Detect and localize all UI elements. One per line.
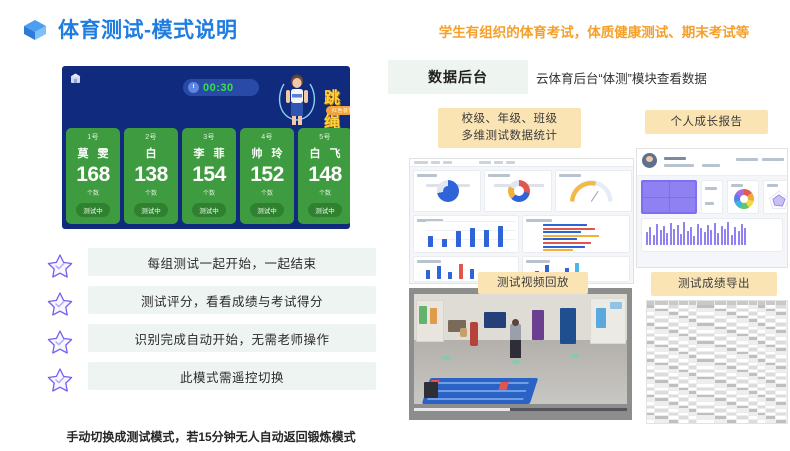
table-cell [758,330,766,333]
table-cell [749,319,758,322]
table-cell [766,366,776,369]
video-scrubber[interactable] [414,408,627,411]
table-cell [758,316,766,319]
feature-row: 此模式需遥控切换 [46,362,376,400]
table-cell [776,388,787,391]
table-cell [647,398,655,401]
count-unit: 个数 [203,188,215,197]
table-cell [679,366,689,369]
table-cell [679,312,689,315]
table-cell [776,323,787,326]
horizontal-bar-card [522,215,630,253]
table-cell [776,309,787,312]
table-cell [689,309,697,312]
table-cell [776,377,787,380]
table-cell [727,316,737,319]
table-cell [737,355,749,358]
table-cell [758,363,766,366]
table-cell [737,334,749,337]
table-cell [679,348,689,351]
table-cell [689,352,697,355]
table-cell [727,334,737,337]
radar-chart [766,188,788,212]
jump-rope-athlete-icon [274,70,320,128]
table-cell [758,323,766,326]
table-cell [647,359,655,362]
table-cell [749,406,758,409]
table-cell [669,359,679,362]
student-count: 152 [250,164,284,185]
table-cell [715,388,727,391]
table-cell [689,409,697,412]
table-cell [766,420,776,423]
student-name: 莫 雯 [74,145,111,161]
page-title: 体育测试-模式说明 [58,14,238,44]
table-cell [727,406,737,409]
table-cell [679,416,689,419]
table-cell [776,312,787,315]
table-cell [727,341,737,344]
table-cell [727,330,737,333]
table-cell [727,402,737,405]
table-cell [766,402,776,405]
table-cell [689,355,697,358]
table-cell [697,409,715,412]
table-cell [697,413,715,416]
table-cell [689,377,697,380]
table-cell [669,373,679,376]
table-cell [715,406,727,409]
table-cell [749,352,758,355]
table-cell [749,327,758,330]
table-cell [669,366,679,369]
table-cell [679,398,689,401]
table-cell [655,345,669,348]
table-cell [655,373,669,376]
table-cell [715,352,727,355]
student-count: 148 [308,164,342,185]
table-cell [689,337,697,340]
table-cell [655,370,669,373]
table-cell [776,391,787,394]
table-cell [655,395,669,398]
table-cell [679,370,689,373]
table-cell [758,416,766,419]
backend-section-tag: 数据后台 [388,60,528,94]
wall-mural [610,302,622,309]
table-cell [749,380,758,383]
caption-personal: 个人成长报告 [645,110,768,134]
table-cell [655,334,669,337]
table-cell [758,309,766,312]
table-cell [737,388,749,391]
table-cell [737,341,749,344]
table-cell [766,406,776,409]
table-cell [737,309,749,312]
table-cell [647,323,655,326]
table-cell [697,309,715,312]
student-card: 4号 帅 玲 152 个数 测试中 [240,128,294,224]
table-cell [655,406,669,409]
table-cell [758,409,766,412]
table-cell [689,420,697,423]
table-cell [715,330,727,333]
table-cell [727,348,737,351]
table-cell [766,352,776,355]
table-cell [727,359,737,362]
table-cell [776,330,787,333]
report-meta [762,158,784,161]
sport-sub-badge: 红色装饰标 [326,106,350,115]
table-cell [727,409,737,412]
table-cell [689,305,697,308]
table-cell [758,305,766,308]
table-cell [749,366,758,369]
count-unit: 个数 [261,188,273,197]
table-cell [655,305,669,308]
test-video-playback-screenshot [409,288,632,420]
table-cell [679,319,689,322]
table-cell [727,345,737,348]
status-badge: 测试中 [192,203,226,217]
table-cell [766,348,776,351]
table-cell [715,341,727,344]
table-cell [647,337,655,340]
table-cell [727,391,737,394]
table-cell [727,337,737,340]
table-cell [727,363,737,366]
table-cell [776,337,787,340]
table-cell [689,323,697,326]
table-cell [749,323,758,326]
avatar [642,153,657,168]
table-cell [715,316,727,319]
student-name: 帅 玲 [248,145,285,161]
table-cell [737,359,749,362]
table-cell [697,398,715,401]
table-cell [749,341,758,344]
table-cell [679,395,689,398]
table-cell [766,391,776,394]
student-number: 1号 [87,132,99,142]
table-cell [679,388,689,391]
table-cell [766,359,776,362]
table-cell [766,305,776,308]
table-cell [647,377,655,380]
cube-logo-icon [22,17,48,43]
feature-row: 每组测试一起开始，一起结束 [46,248,376,286]
table-cell [679,323,689,326]
table-cell [737,366,749,369]
table-cell [776,316,787,319]
score-export-table-screenshot [646,300,788,424]
table-cell [749,388,758,391]
table-cell [655,323,669,326]
table-cell [776,345,787,348]
table-cell [766,316,776,319]
table-cell [697,402,715,405]
table-cell [766,370,776,373]
kpi-donut-card [484,170,552,212]
table-cell [727,380,737,383]
table-cell [758,345,766,348]
table-cell [727,416,737,419]
table-cell [727,319,737,322]
table-cell [776,359,787,362]
table-cell [758,366,766,369]
table-cell [749,334,758,337]
table-cell [715,384,727,387]
table-cell [715,420,727,423]
table-cell [737,420,749,423]
table-cell [669,395,679,398]
table-cell [737,345,749,348]
table-cell [647,388,655,391]
table-cell [689,391,697,394]
table-cell [679,352,689,355]
table-cell [776,384,787,387]
kpi-tiles [641,180,697,214]
table-cell [655,398,669,401]
display-screen [484,312,506,328]
table-cell [766,398,776,401]
status-badge: 测试中 [308,203,342,217]
table-cell [655,309,669,312]
table-cell [749,337,758,340]
table-cell [669,398,679,401]
table-cell [647,309,655,312]
feature-row: 识别完成自动开始，无需老师操作 [46,324,376,362]
table-cell [679,377,689,380]
caption-line-1: 校级、年级、班级 [462,111,558,128]
table-cell [766,395,776,398]
table-cell [679,309,689,312]
star-icon [46,252,74,280]
table-cell [737,380,749,383]
table-cell [647,345,655,348]
table-cell [689,359,697,362]
table-cell [737,337,749,340]
table-cell [737,363,749,366]
table-cell [749,330,758,333]
table-cell [758,402,766,405]
table-cell [776,348,787,351]
table-cell [766,409,776,412]
table-cell [655,366,669,369]
table-cell [737,327,749,330]
table-cell [715,334,727,337]
card-title [526,219,552,222]
donut-chart [734,189,754,209]
table-cell [758,359,766,362]
table-cell [749,391,758,394]
table-cell [737,305,749,308]
table-cell [758,373,766,376]
table-cell [655,352,669,355]
table-cell [655,319,669,322]
table-cell [715,370,727,373]
table-cell [766,330,776,333]
table-cell [655,341,669,344]
table-cell [776,413,787,416]
table-cell [697,388,715,391]
table-cell [697,312,715,315]
table-cell [655,337,669,340]
topbar-chip [443,161,452,164]
table-cell [715,309,727,312]
table-cell [669,330,679,333]
table-cell [758,380,766,383]
table-cell [758,413,766,416]
table-cell [655,413,669,416]
table-cell [758,337,766,340]
table-cell [647,395,655,398]
table-cell [669,327,679,330]
table-cell [679,384,689,387]
feature-text: 识别完成自动开始，无需老师操作 [88,324,376,352]
table-cell [679,341,689,344]
table-cell [727,377,737,380]
table-cell [776,373,787,376]
table-cell [697,355,715,358]
table-cell [669,323,679,326]
topbar-chip [506,161,515,164]
student-number: 2号 [145,132,157,142]
display-kiosk [560,308,576,344]
table-cell [715,312,727,315]
table-cell [697,334,715,337]
table-cell [669,352,679,355]
person [470,322,478,346]
table-cell [766,377,776,380]
table-cell [776,370,787,373]
slide-root: 体育测试-模式说明 学生有组织的体育考试，体质健康测试、期末考试等 00:30 [0,0,790,451]
table-cell [679,402,689,405]
table-cell [679,305,689,308]
table-cell [697,391,715,394]
table-cell [766,341,776,344]
table-cell [758,327,766,330]
table-cell [647,355,655,358]
card-title [559,174,581,177]
table-cell [715,345,727,348]
table-cell [669,309,679,312]
table-cell [758,420,766,423]
table-cell [727,395,737,398]
table-cell [727,327,737,330]
table-cell [715,327,727,330]
table-cell [697,316,715,319]
table-cell [697,337,715,340]
table-cell [697,330,715,333]
table-cell [689,416,697,419]
table-cell [737,312,749,315]
count-unit: 个数 [87,188,99,197]
table-cell [669,388,679,391]
table-cell [776,305,787,308]
table-cell [715,319,727,322]
student-name: 李 菲 [190,145,227,161]
table-cell [647,327,655,330]
table-cell [737,391,749,394]
table-cell [647,384,655,387]
caption-video: 测试视频回放 [478,272,588,294]
backend-subtitle: 云体育后台“体测”模块查看数据 [536,68,707,87]
table-cell [679,413,689,416]
table-cell [776,327,787,330]
table-cell [679,373,689,376]
table-cell [679,391,689,394]
jump-rope-mat [422,378,538,404]
table-cell [737,316,749,319]
table-cell [727,370,737,373]
table-cell [715,323,727,326]
table-cell [655,416,669,419]
report-meta [702,164,720,167]
table-cell [697,377,715,380]
table-cell [647,373,655,376]
table-cell [727,323,737,326]
table-cell [689,319,697,322]
table-cell [737,330,749,333]
table-cell [697,373,715,376]
tripod-phone [424,382,438,398]
table-cell [749,309,758,312]
floor-marker [512,360,521,364]
table-cell [697,319,715,322]
table-cell [647,413,655,416]
gauge-chart [566,179,620,205]
table-cell [715,305,727,308]
table-cell [679,420,689,423]
table-cell [647,380,655,383]
table-cell [669,413,679,416]
table-cell [727,366,737,369]
table-cell [727,312,737,315]
wall-mural [419,306,427,324]
table-cell [749,413,758,416]
table-cell [697,363,715,366]
table-cell [689,334,697,337]
table-cell [647,366,655,369]
table-cell [715,402,727,405]
table-cell [669,377,679,380]
table-cell [749,402,758,405]
table-cell [715,395,727,398]
table-cell [749,409,758,412]
table-cell [669,341,679,344]
table-cell [669,391,679,394]
wall-mural [430,308,437,324]
table-cell [647,312,655,315]
countdown-timer: 00:30 [183,79,259,96]
table-cell [697,370,715,373]
table-cell [655,355,669,358]
table-cell [689,388,697,391]
floor-marker [442,356,451,360]
table-cell [749,373,758,376]
home-icon [69,72,82,85]
table-cell [766,363,776,366]
table-cell [647,416,655,419]
table-cell [737,406,749,409]
table-cell [697,345,715,348]
table-cell [749,416,758,419]
table-cell [776,366,787,369]
table-cell [766,345,776,348]
table-cell [669,348,679,351]
caption-export: 测试成绩导出 [651,272,777,296]
